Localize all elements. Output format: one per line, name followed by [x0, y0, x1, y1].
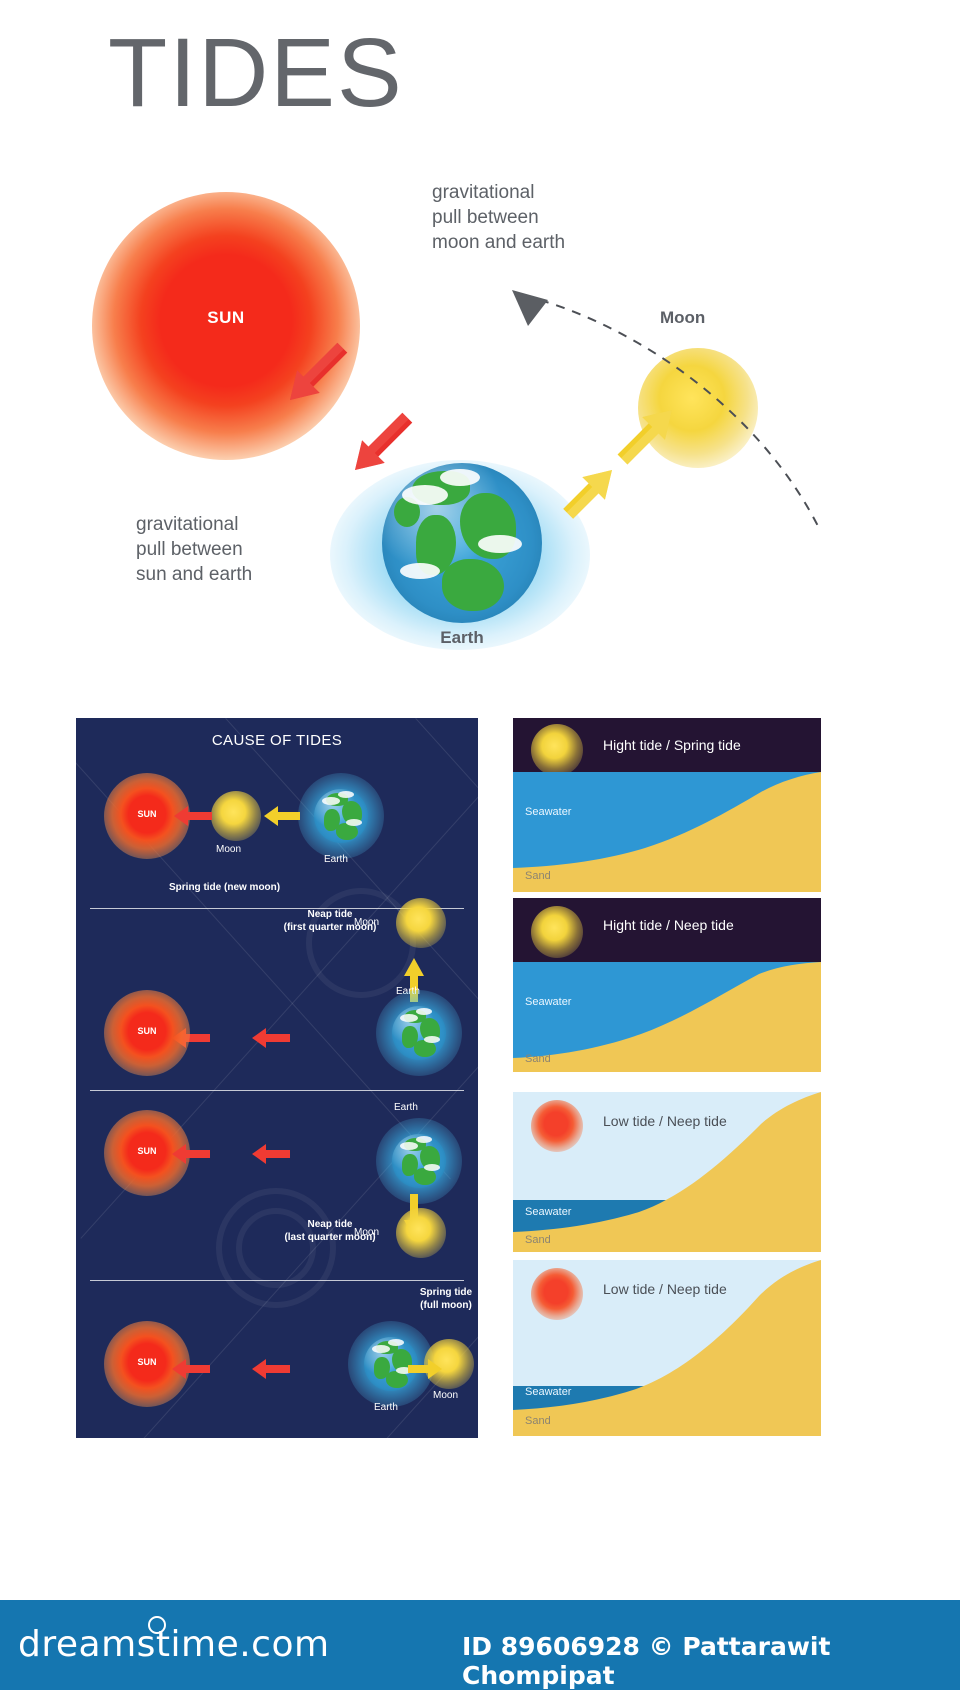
row4-earth-label: Earth — [374, 1402, 398, 1413]
gravity-arrow-moon-upper — [611, 399, 683, 471]
tide-panel-2-title: Hight tide / Neep tide — [603, 918, 734, 932]
row4-red-arrow-1 — [172, 1359, 210, 1379]
cause-of-tides-panel: CAUSE OF TIDES SUN Moon Earth Spring tid… — [76, 718, 478, 1438]
image-credit: ID 89606928 © Pattarawit Chompipat — [462, 1632, 960, 1690]
top-diagram: SUN Earth Moon gravitational pull betwee… — [0, 150, 960, 680]
dreamstime-logo[interactable]: dreamstime.com — [18, 1624, 330, 1665]
tide-panel-3-sand-label: Sand — [525, 1234, 551, 1246]
top-diagram-arrows — [0, 150, 960, 680]
row1-yellow-arrow — [264, 806, 300, 826]
row4-tide-line-2: (full moon) — [396, 1299, 478, 1312]
row4-arrows — [76, 1321, 478, 1438]
row1-tide-label: Spring tide (new moon) — [169, 881, 280, 894]
tide-panel-1-sand — [513, 772, 821, 892]
row4-red-arrow-2 — [252, 1359, 290, 1379]
gravity-arrow-sun-upper — [279, 336, 354, 411]
tide-panel-2-seawater-label: Seawater — [525, 996, 571, 1008]
row1-red-arrow — [174, 806, 212, 826]
tide-panel-1-sand-label: Sand — [525, 870, 551, 882]
tide-panel-3-seawater-label: Seawater — [525, 1206, 571, 1218]
row2-red-arrow-2 — [252, 1028, 290, 1048]
tide-panel-4-sand-label: Sand — [525, 1415, 551, 1427]
row3-tide-label: Neap tide (last quarter moon) — [258, 1218, 402, 1244]
tide-panel-4-seawater-label: Seawater — [525, 1386, 571, 1398]
tide-panel-2-sand — [513, 962, 821, 1072]
tide-panel-1-seawater-label: Seawater — [525, 806, 571, 818]
row4-yellow-arrow — [408, 1359, 442, 1379]
tide-panel-1: Hight tide / Spring tide Seawater Sand — [513, 718, 821, 892]
tide-panel-1-title: Hight tide / Spring tide — [603, 738, 741, 752]
row1-earth-label: Earth — [324, 854, 348, 865]
row4-moon-label: Moon — [433, 1390, 458, 1401]
tide-panel-1-moon-icon — [531, 724, 583, 776]
footer-bar: dreamstime.com ID 89606928 © Pattarawit … — [0, 1600, 960, 1690]
tide-panel-2: Hight tide / Neep tide Seawater Sand — [513, 898, 821, 1072]
row1-moon-label: Moon — [216, 844, 241, 855]
tide-panel-3: Low tide / Neep tide Seawater Sand — [513, 1092, 821, 1252]
row2-earth-icon — [392, 1006, 446, 1060]
row-divider-3 — [90, 1280, 464, 1281]
row3-moon-icon — [396, 1208, 446, 1258]
row3-tide-line-2: (last quarter moon) — [258, 1231, 402, 1244]
row-divider-2 — [90, 1090, 464, 1091]
page-title: TIDES — [108, 22, 404, 124]
row3-red-arrow-2 — [252, 1144, 290, 1164]
tide-panel-4: Low tide / Neep tide Seawater Sand — [513, 1260, 821, 1436]
orbit-arrowhead-icon — [512, 290, 548, 326]
tide-panel-4-sand — [513, 1260, 821, 1436]
row4-tide-label: Spring tide (full moon) — [396, 1286, 478, 1312]
tide-panel-2-sand-label: Sand — [525, 1053, 551, 1065]
row3-red-arrow-1 — [172, 1144, 210, 1164]
row2-sun-label: SUN — [104, 1026, 190, 1036]
row3-tide-line-1: Neap tide — [258, 1218, 402, 1231]
spiral-logo-icon — [148, 1616, 166, 1634]
gravity-arrow-moon-lower — [557, 459, 623, 525]
tide-panel-3-sand — [513, 1092, 821, 1252]
tide-panel-2-moon-icon — [531, 906, 583, 958]
row4-tide-line-1: Spring tide — [396, 1286, 478, 1299]
